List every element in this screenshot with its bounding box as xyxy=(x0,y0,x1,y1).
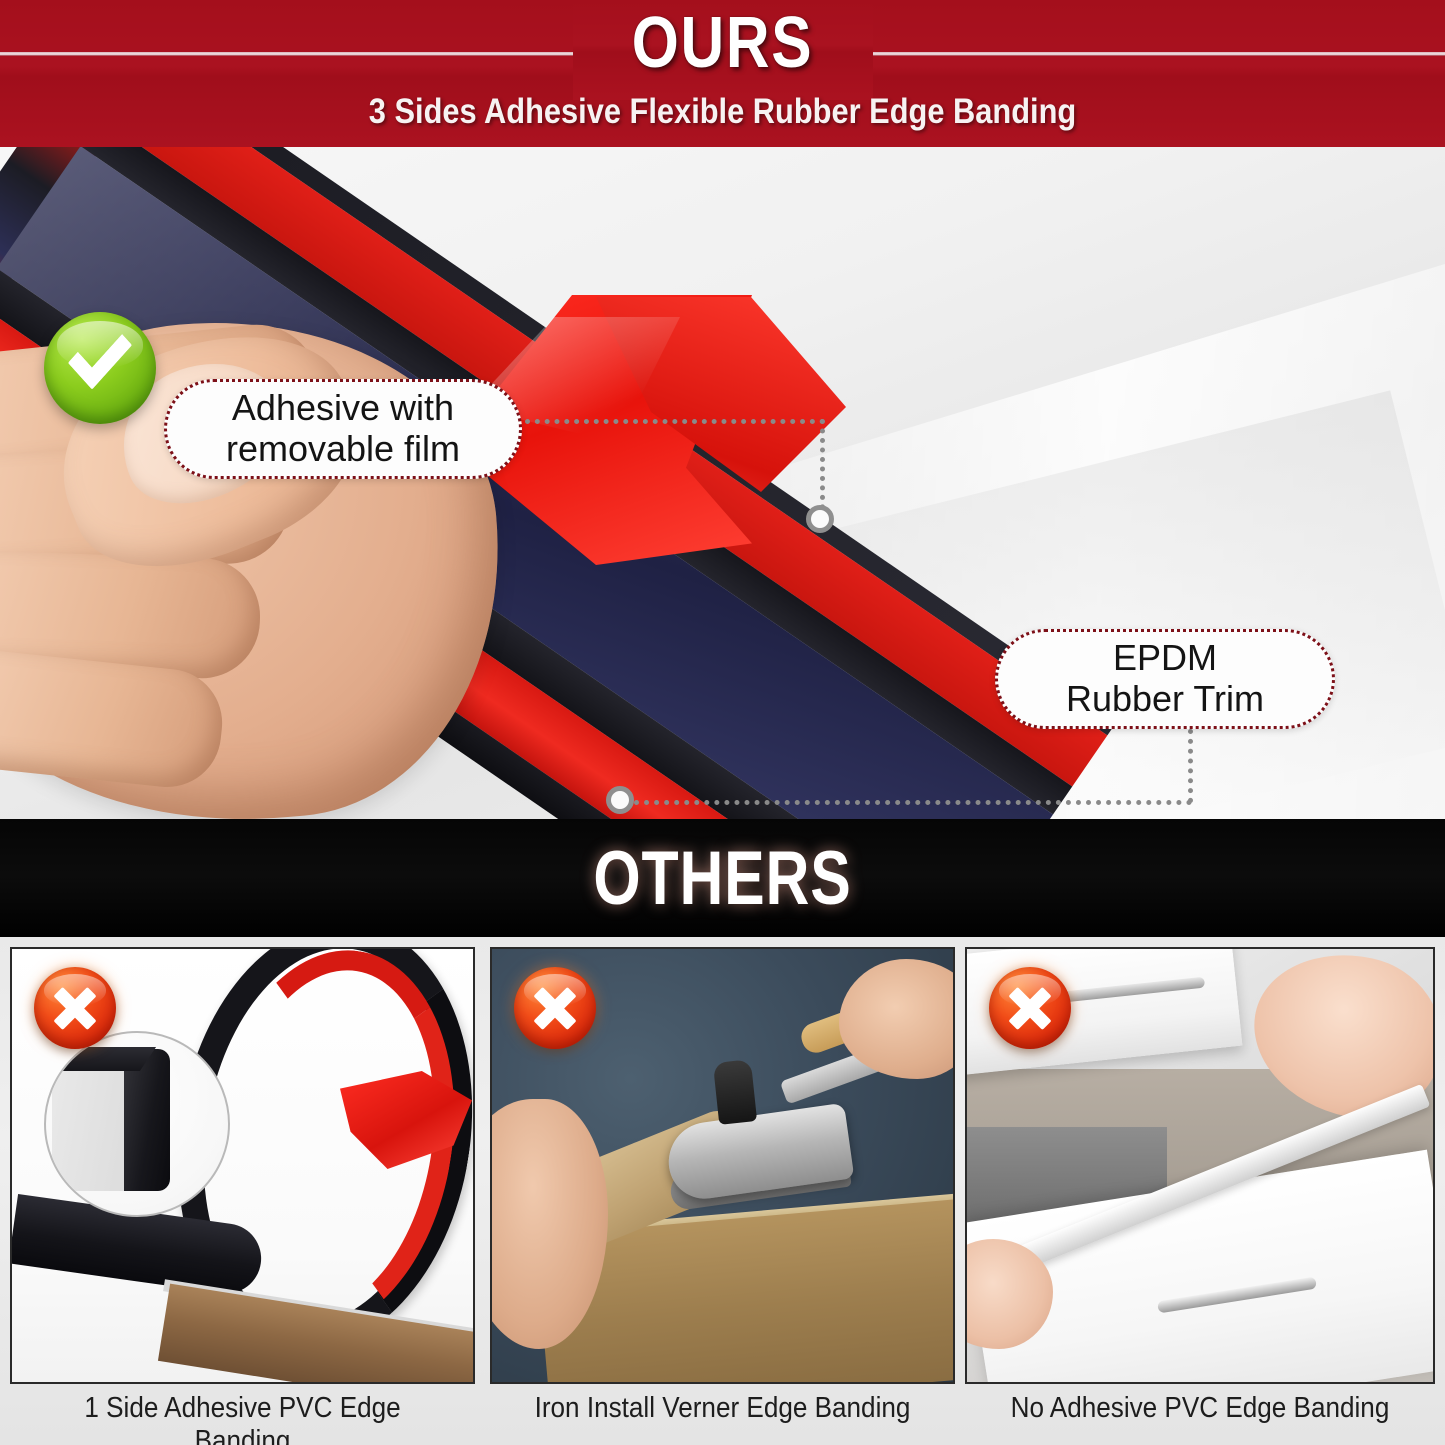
others-panel-iron-install xyxy=(490,947,955,1384)
check-icon xyxy=(44,312,156,424)
others-header-band: OTHERS xyxy=(0,819,1445,937)
leader-line-epdm-horizontal xyxy=(634,800,1192,805)
magnifier-inset xyxy=(44,1031,230,1217)
ours-subtitle: 3 Sides Adhesive Flexible Rubber Edge Ba… xyxy=(87,92,1359,132)
cross-icon xyxy=(989,967,1071,1049)
ours-header-band: OURS 3 Sides Adhesive Flexible Rubber Ed… xyxy=(0,0,1445,147)
callout-epdm-rubber-trim: EPDM Rubber Trim xyxy=(995,629,1335,729)
others-title: OTHERS xyxy=(145,835,1301,922)
cross-icon xyxy=(514,967,596,1049)
others-panel-no-adhesive xyxy=(965,947,1435,1384)
leader-line-epdm-vertical xyxy=(1188,729,1193,803)
panel-3-caption: No Adhesive PVC Edge Banding xyxy=(989,1392,1412,1425)
callout-adhesive-text: Adhesive with removable film xyxy=(226,388,460,469)
comparison-infographic: OURS 3 Sides Adhesive Flexible Rubber Ed… xyxy=(0,0,1445,1445)
profile-panel-face xyxy=(52,1061,130,1191)
callout-adhesive-line2: removable film xyxy=(226,428,460,469)
leader-marker-adhesive xyxy=(806,505,834,533)
leader-line-adhesive-horizontal xyxy=(525,419,825,424)
profile-black-top xyxy=(60,1047,156,1071)
callout-epdm-line2: Rubber Trim xyxy=(1066,678,1264,719)
others-panels-row: 1 Side Adhesive PVC Edge Banding Iron In… xyxy=(0,937,1445,1445)
callout-epdm-line1: EPDM xyxy=(1113,637,1217,678)
others-panel-1-side-adhesive xyxy=(10,947,475,1384)
leader-line-adhesive-vertical xyxy=(820,419,825,519)
check-icon-tick xyxy=(68,318,132,389)
leader-marker-epdm xyxy=(606,786,634,814)
callout-adhesive-line1: Adhesive with xyxy=(232,387,454,428)
iron-knob xyxy=(713,1059,757,1125)
panel-2-caption: Iron Install Verner Edge Banding xyxy=(513,1392,932,1425)
panel-1-caption: 1 Side Adhesive PVC Edge Banding xyxy=(33,1392,452,1445)
ours-title: OURS xyxy=(116,2,1330,84)
callout-adhesive-with-removable-film: Adhesive with removable film xyxy=(164,379,522,479)
ours-hero-photo: Adhesive with removable film EPDM Rubber… xyxy=(0,147,1445,819)
cross-icon xyxy=(34,967,116,1049)
callout-epdm-text: EPDM Rubber Trim xyxy=(1066,638,1264,719)
